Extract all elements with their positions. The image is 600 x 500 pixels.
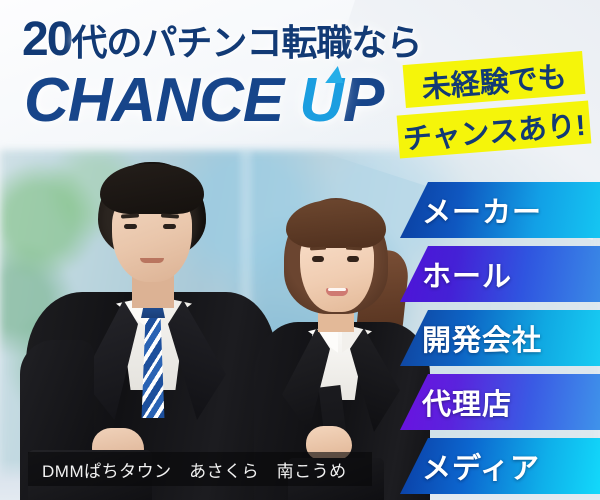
caption-text: DMMぱちタウン あさくら 南こうめ <box>42 457 347 482</box>
category-button-hall[interactable]: ホール <box>400 246 600 302</box>
category-button-list: メーカー ホール 開発会社 代理店 メディア <box>400 176 600 500</box>
category-label-maker: メーカー <box>400 189 600 231</box>
businessman-figure <box>20 150 280 500</box>
woman-fringe <box>286 200 386 248</box>
logo-up-group: UP <box>299 70 383 132</box>
logo-main-text: CHANCE <box>24 66 283 135</box>
man-mouth <box>140 258 164 263</box>
category-button-development-company[interactable]: 開発会社 <box>400 310 600 366</box>
man-fringe <box>100 164 204 214</box>
category-button-maker[interactable]: メーカー <box>400 182 600 238</box>
chance-up-logo: CHANCEUP <box>24 70 383 132</box>
category-label-media: メディア <box>400 445 600 487</box>
recruitment-banner[interactable]: 20代のパチンコ転職なら CHANCEUP 未経験でも チャンスあり! メーカー… <box>0 0 600 500</box>
woman-eye-left <box>312 256 324 262</box>
headline-tail: なら <box>351 22 421 63</box>
caption-bar: DMMぱちタウン あさくら 南こうめ <box>28 452 372 486</box>
headline-middle: 代のパチンコ転職 <box>71 22 351 63</box>
man-eye-left <box>124 224 137 229</box>
category-label-agency: 代理店 <box>400 381 600 423</box>
headline-text: 20代のパチンコ転職なら <box>22 16 421 64</box>
people-photo <box>0 150 420 500</box>
category-label-hall: ホール <box>400 253 600 295</box>
woman-eye-right <box>347 256 359 262</box>
category-button-agency[interactable]: 代理店 <box>400 374 600 430</box>
category-button-media[interactable]: メディア <box>400 438 600 494</box>
headline-number: 20 <box>22 13 71 66</box>
man-eye-right <box>163 224 176 229</box>
logo-p-letter: P <box>343 66 383 135</box>
woman-teeth <box>328 288 346 291</box>
logo-u-letter: U <box>299 70 343 132</box>
category-label-development-company: 開発会社 <box>400 317 600 359</box>
